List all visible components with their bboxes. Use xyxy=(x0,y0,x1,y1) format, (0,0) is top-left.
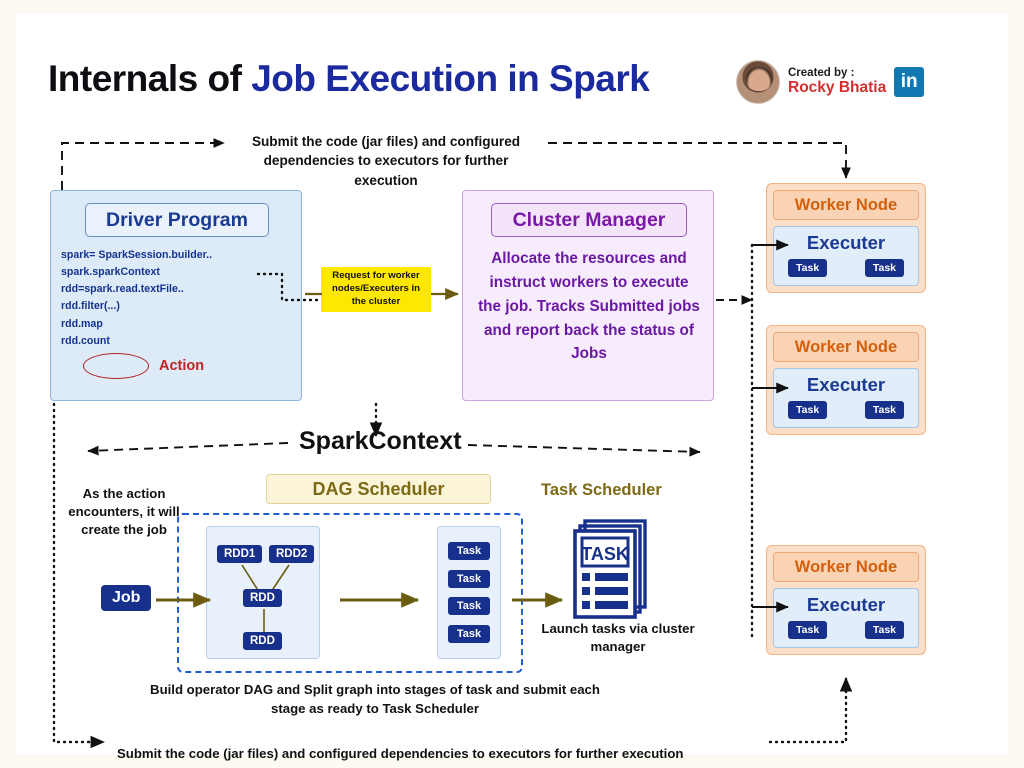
action-note: As the action encounters, it will create… xyxy=(62,485,186,540)
executor-title: Executer xyxy=(782,594,910,616)
executor-title: Executer xyxy=(782,232,910,254)
stage-task-chip: Task xyxy=(448,597,490,615)
title-accent: Job Execution in Spark xyxy=(251,58,649,99)
rdd-graph-panel: RDD1 RDD2 RDD RDD xyxy=(206,526,320,659)
diagram-canvas: Internals of Job Execution in Spark Crea… xyxy=(0,0,1024,768)
bottom-caption: Submit the code (jar files) and configur… xyxy=(117,746,683,761)
author-credit: Created by : Rocky Bhatia in xyxy=(736,60,924,104)
code-line: rdd.map xyxy=(61,316,212,333)
worker-node-title: Worker Node xyxy=(773,552,919,582)
task-row: Task Task xyxy=(782,259,910,277)
action-marker: Action xyxy=(83,353,204,379)
stage-task-chip: Task xyxy=(448,570,490,588)
worker-node-title: Worker Node xyxy=(773,332,919,362)
task-chip: Task xyxy=(788,621,827,639)
cluster-manager-description: Allocate the resources and instruct work… xyxy=(477,247,701,366)
cluster-manager-box: Cluster Manager Allocate the resources a… xyxy=(462,190,714,401)
task-row: Task Task xyxy=(782,401,910,419)
code-line: rdd.filter(...) xyxy=(61,298,212,315)
task-chip: Task xyxy=(865,401,904,419)
task-chip: Task xyxy=(788,259,827,277)
executor-title: Executer xyxy=(782,374,910,396)
top-caption: Submit the code (jar files) and configur… xyxy=(231,132,541,190)
task-row: Task Task xyxy=(782,621,910,639)
executor-box: Executer Task Task xyxy=(773,588,919,648)
rdd-node-rdd-bottom: RDD xyxy=(243,632,282,650)
task-chip: Task xyxy=(865,259,904,277)
job-badge: Job xyxy=(101,585,151,611)
stage-task-panel: Task Task Task Task xyxy=(437,526,501,659)
stage-task-chip: Task xyxy=(448,625,490,643)
rdd-node-rdd2: RDD2 xyxy=(269,545,314,563)
worker-node-2: Worker Node Executer Task Task xyxy=(766,325,926,435)
stage-task-chip: Task xyxy=(448,542,490,560)
code-line: rdd.count xyxy=(61,333,212,350)
task-chip: Task xyxy=(788,401,827,419)
worker-node-title: Worker Node xyxy=(773,190,919,220)
rdd-node-rdd1: RDD1 xyxy=(217,545,262,563)
cluster-manager-title: Cluster Manager xyxy=(491,203,687,237)
driver-code-block: spark= SparkSession.builder.. spark.spar… xyxy=(61,247,212,350)
build-operator-caption: Build operator DAG and Split graph into … xyxy=(140,680,610,718)
worker-node-3: Worker Node Executer Task Task xyxy=(766,545,926,655)
author-name: Rocky Bhatia xyxy=(788,80,886,97)
title-plain: Internals of xyxy=(48,58,251,99)
task-stack-icon: TASK xyxy=(573,518,657,626)
created-by-label: Created by : xyxy=(788,67,886,79)
page-title: Internals of Job Execution in Spark xyxy=(48,58,649,100)
linkedin-icon[interactable]: in xyxy=(894,67,924,97)
request-callout: Request for worker nodes/Executers in th… xyxy=(321,267,431,312)
author-text-block: Created by : Rocky Bhatia xyxy=(788,67,886,96)
launch-tasks-note: Launch tasks via cluster manager xyxy=(541,620,695,656)
action-ellipse-icon xyxy=(83,353,149,379)
action-label: Action xyxy=(159,358,204,374)
code-line: spark= SparkSession.builder.. xyxy=(61,247,212,264)
worker-node-1: Worker Node Executer Task Task xyxy=(766,183,926,293)
driver-program-box: Driver Program spark= SparkSession.build… xyxy=(50,190,302,401)
task-scheduler-title: Task Scheduler xyxy=(541,481,662,500)
rdd-node-rdd-mid: RDD xyxy=(243,589,282,607)
code-line: rdd=spark.read.textFile.. xyxy=(61,281,212,298)
executor-box: Executer Task Task xyxy=(773,368,919,428)
task-chip: Task xyxy=(865,621,904,639)
code-line: spark.sparkContext xyxy=(61,264,212,281)
dag-scheduler-title: DAG Scheduler xyxy=(266,474,491,504)
avatar xyxy=(736,60,780,104)
executor-box: Executer Task Task xyxy=(773,226,919,286)
task-icon-text: TASK xyxy=(581,544,629,564)
sparkcontext-label: SparkContext xyxy=(299,427,462,456)
driver-program-title: Driver Program xyxy=(85,203,269,237)
